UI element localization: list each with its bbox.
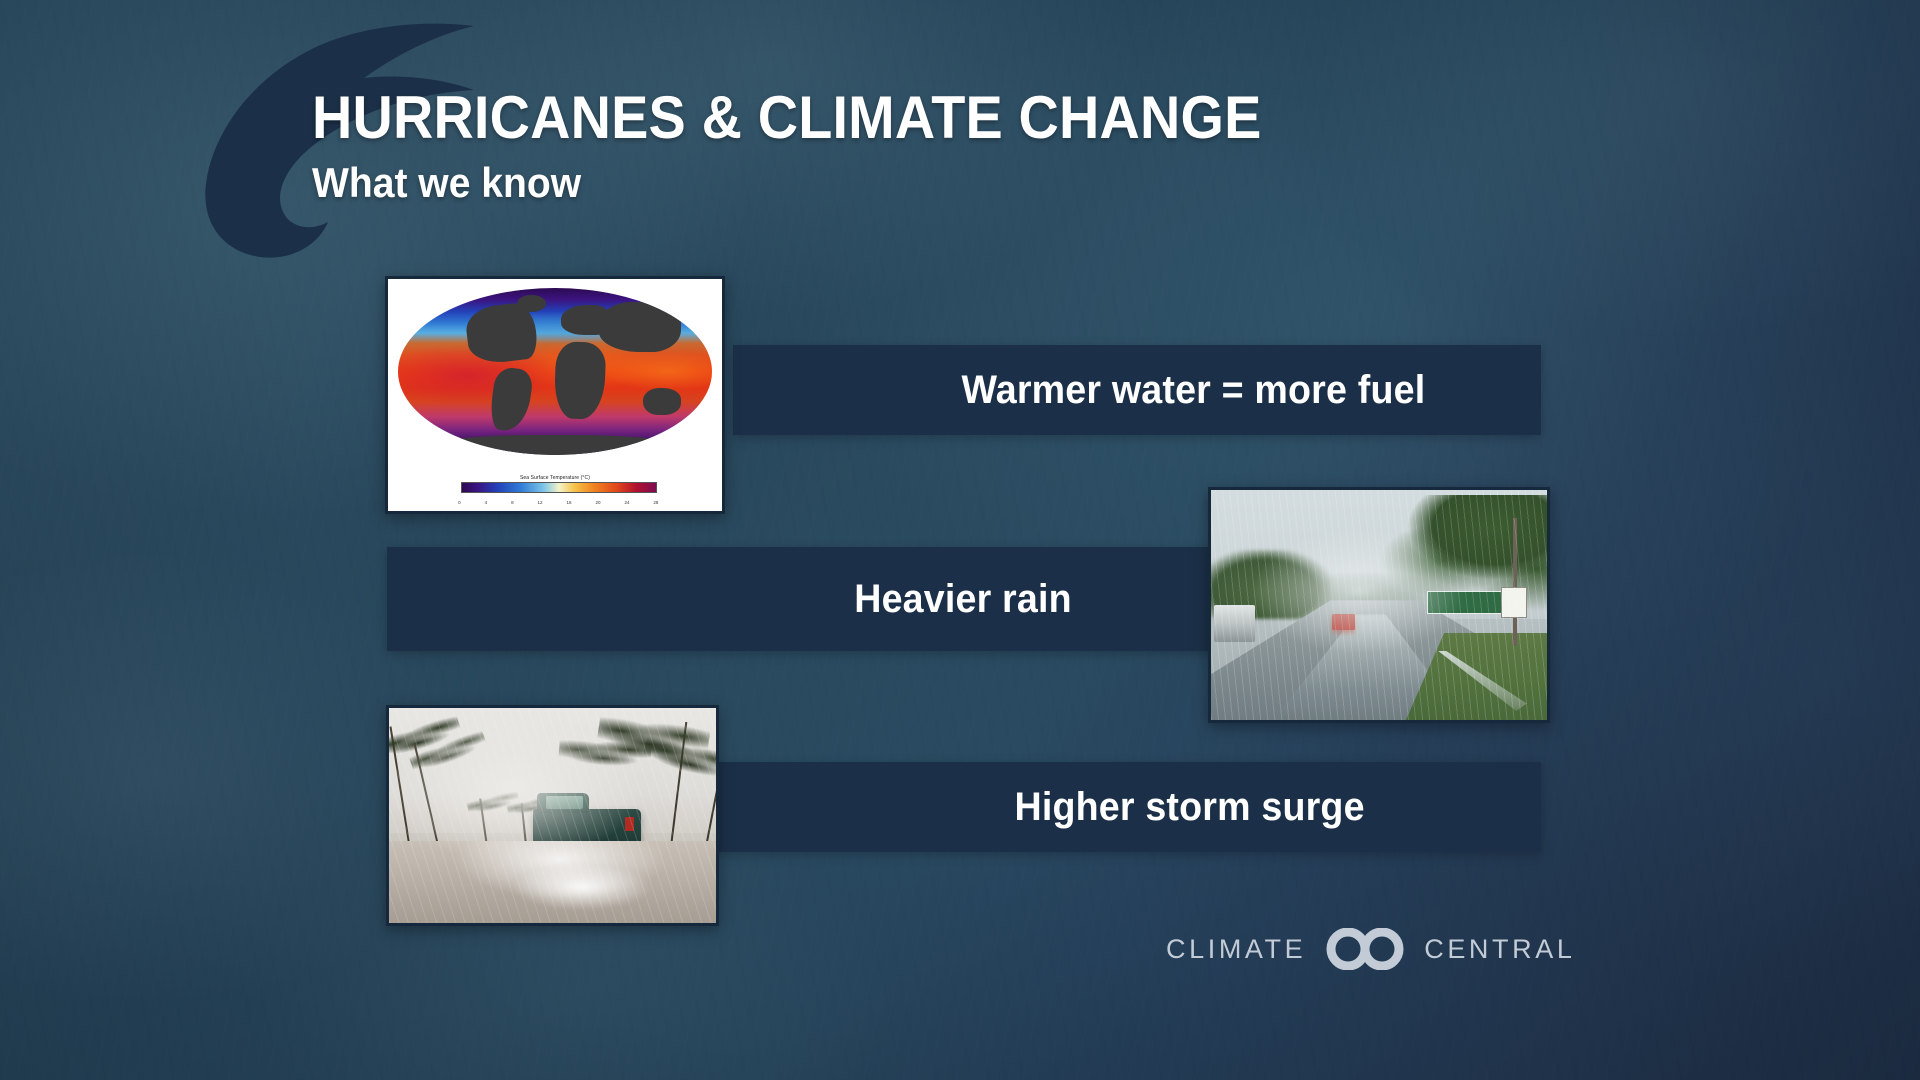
surge-canvas — [389, 708, 716, 923]
point-banner-storm-surge: Higher storm surge — [716, 762, 1541, 852]
sea-surface-temperature-map-image: Sea Surface Temperature (°C) 0 4 8 12 16… — [385, 276, 725, 514]
continent-australia — [643, 388, 681, 415]
continent-antarctica — [417, 435, 693, 455]
sst-tick: 0 — [458, 500, 461, 505]
sst-colorbar — [461, 482, 657, 493]
interlocking-rings-icon — [1322, 928, 1408, 970]
sst-tick: 8 — [511, 500, 514, 505]
rainy-road-photo — [1208, 487, 1550, 723]
sst-colorbar-label: Sea Surface Temperature (°C) — [388, 475, 722, 481]
point-label-storm-surge: Higher storm surge — [741, 785, 1517, 830]
sst-tick: 20 — [595, 500, 600, 505]
storm-surge-photo — [386, 705, 719, 926]
surge-haze — [389, 708, 716, 923]
climate-central-logo: CLIMATE CENTRAL — [1166, 928, 1575, 970]
logo-word-climate: CLIMATE — [1166, 934, 1306, 965]
page-title: HURRICANES & CLIMATE CHANGE — [312, 88, 1428, 148]
sst-tick: 4 — [485, 500, 488, 505]
sst-tick: 24 — [624, 500, 629, 505]
point-label-warmer-water: Warmer water = more fuel — [757, 368, 1517, 413]
sst-tick: 12 — [538, 500, 543, 505]
sst-colorbar-ticks: 0 4 8 12 16 20 24 28 — [458, 500, 658, 505]
point-banner-warmer-water: Warmer water = more fuel — [733, 345, 1541, 435]
sst-tick: 16 — [567, 500, 572, 505]
title-block: HURRICANES & CLIMATE CHANGE What we know — [312, 88, 1512, 204]
sst-tick: 28 — [653, 500, 658, 505]
sst-globe — [398, 288, 712, 455]
sst-canvas: Sea Surface Temperature (°C) 0 4 8 12 16… — [388, 279, 722, 511]
slide-canvas: HURRICANES & CLIMATE CHANGE What we know… — [0, 0, 1920, 1080]
rain-haze — [1211, 490, 1547, 720]
continent-asia — [599, 302, 681, 352]
logo-word-central: CENTRAL — [1424, 934, 1575, 965]
page-subtitle: What we know — [312, 162, 1428, 204]
rain-canvas — [1211, 490, 1547, 720]
